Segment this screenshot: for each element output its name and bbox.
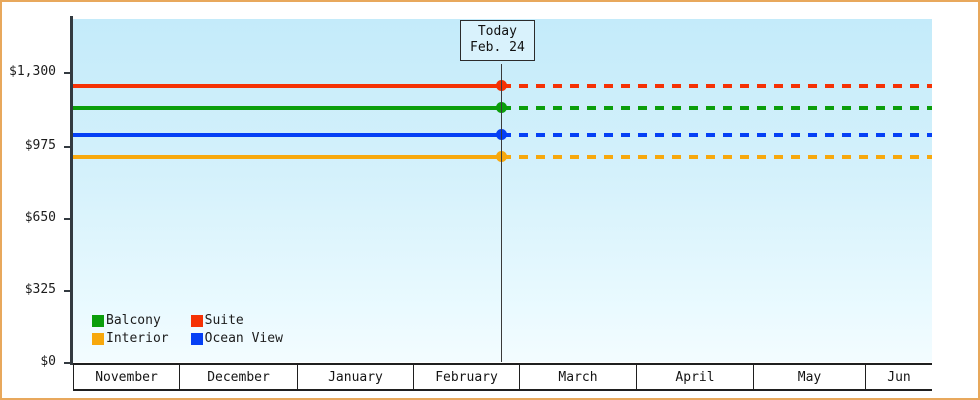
y-axis-label-325: $325 [25,282,56,297]
today-vertical-line [501,64,502,362]
today-date: Feb. 24 [470,40,525,56]
x-axis-cell-february[interactable]: February [414,365,520,389]
legend-swatch-suite-icon [191,315,203,327]
series-line-interior-forecast [502,155,932,159]
x-axis-cell-april[interactable]: April [637,365,754,389]
y-axis-label-650: $650 [25,210,56,225]
y-tick-650 [64,218,72,220]
x-axis-cell-december[interactable]: December [180,365,298,389]
y-axis-line [70,16,73,365]
legend-entry-balcony[interactable]: Balcony [92,313,169,328]
legend-entry-ocean-view[interactable]: Ocean View [191,331,283,346]
legend-label-suite: Suite [205,313,244,328]
x-axis-cell-may[interactable]: May [754,365,866,389]
y-tick-975 [64,146,72,148]
x-axis-month-table: November December January February March… [73,363,932,391]
today-label: Today [470,24,525,40]
x-axis-cell-march[interactable]: March [520,365,637,389]
series-line-ocean-view-actual [73,133,502,137]
y-axis-label-1300: $1,300 [9,64,56,79]
series-line-ocean-view-forecast [502,133,932,137]
y-axis-label-975: $975 [25,138,56,153]
series-line-suite-forecast [502,84,932,88]
series-line-balcony-forecast [502,106,932,110]
legend-entry-suite[interactable]: Suite [191,313,283,328]
legend-label-balcony: Balcony [106,313,161,328]
x-axis-cell-november[interactable]: November [73,365,180,389]
legend-swatch-balcony-icon [92,315,104,327]
price-trend-chart: $1,300 $975 $650 $325 $0 Today Feb. 24 B… [0,0,980,400]
legend-swatch-interior-icon [92,333,104,345]
series-line-balcony-actual [73,106,502,110]
x-axis-cell-january[interactable]: January [298,365,414,389]
plot-area [73,19,932,362]
legend-label-interior: Interior [106,331,169,346]
legend: Balcony Suite Interior Ocean View [92,313,283,346]
legend-entry-interior[interactable]: Interior [92,331,169,346]
today-callout-box: Today Feb. 24 [460,20,535,61]
legend-swatch-ocean-view-icon [191,333,203,345]
series-line-suite-actual [73,84,502,88]
y-axis-label-0: $0 [40,354,56,369]
y-tick-1300 [64,72,72,74]
x-axis-cell-jun[interactable]: Jun [866,365,932,389]
legend-label-ocean-view: Ocean View [205,331,283,346]
y-tick-325 [64,290,72,292]
series-line-interior-actual [73,155,502,159]
y-tick-0 [64,362,72,364]
